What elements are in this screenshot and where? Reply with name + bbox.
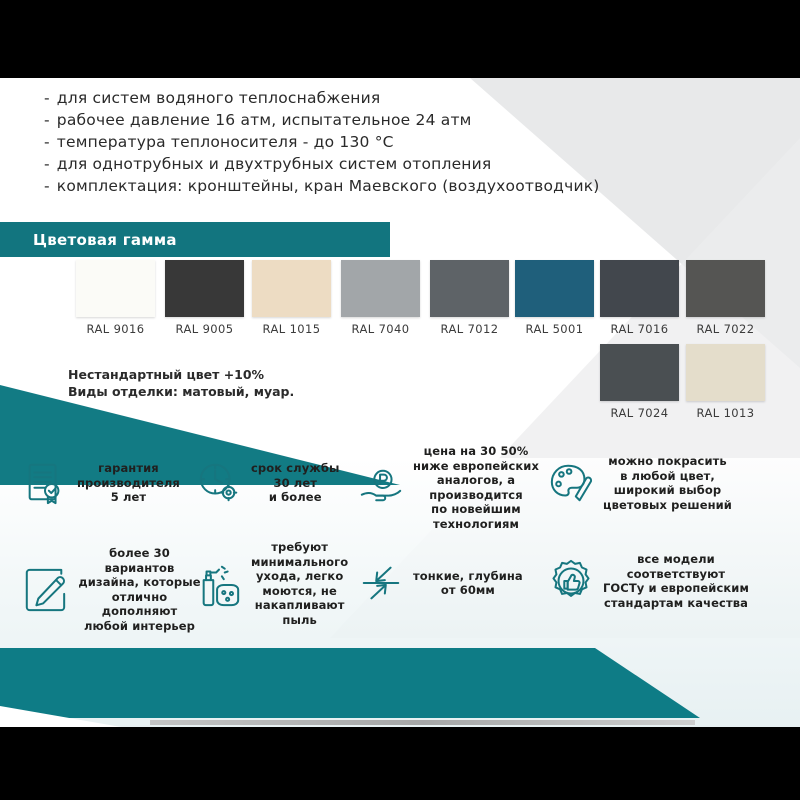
feature-item: все моделисоответствуютГОСТу и европейск…: [548, 552, 788, 610]
specification-list: -для систем водяного теплоснабжения-рабо…: [44, 87, 664, 197]
spec-bullet-dash: -: [44, 109, 50, 131]
spec-item-label: для систем водяного теплоснабжения: [57, 87, 381, 109]
feature-text-line: производителя: [77, 476, 180, 491]
color-swatch-code: RAL 7024: [600, 406, 679, 420]
palette-note: Нестандартный цвет +10%: [68, 366, 294, 383]
color-swatch[interactable]: RAL 7040: [341, 260, 420, 336]
hand-ruble-icon: [358, 465, 404, 511]
feature-text: тонкие, глубинаот 60мм: [413, 569, 523, 598]
feature-item: срок службы30 лети более: [196, 460, 366, 506]
color-swatch-chip: [252, 260, 331, 317]
feature-text-line: ГОСТу и европейским: [603, 581, 749, 596]
feature-text-line: в любой цвет,: [603, 469, 732, 484]
color-swatch[interactable]: RAL 9016: [76, 260, 155, 336]
color-swatch-code: RAL 1013: [686, 406, 765, 420]
color-swatch[interactable]: RAL 1015: [252, 260, 331, 336]
color-swatch[interactable]: RAL 7022: [686, 260, 765, 336]
palette-icon: [548, 460, 594, 506]
feature-text-line: соответствуют: [603, 567, 749, 582]
feature-text-line: широкий выбор: [603, 483, 732, 498]
thickness-arrows-icon: [358, 560, 404, 606]
feature-text-line: любой интерьер: [77, 619, 202, 634]
color-swatch-code: RAL 9016: [76, 322, 155, 336]
feature-text-line: гарантия: [77, 461, 180, 476]
feature-item: гарантияпроизводителя5 лет: [22, 460, 197, 506]
palette-note: Виды отделки: матовый, муар.: [68, 383, 294, 400]
thumbs-up-badge-icon: [548, 558, 594, 604]
color-swatch-chip: [76, 260, 155, 317]
feature-text-line: аналогов, а: [413, 473, 539, 488]
spec-list-item: -рабочее давление 16 атм, испытательное …: [44, 109, 664, 131]
color-swatch-chip: [686, 260, 765, 317]
feature-text-line: моются, не: [251, 584, 348, 599]
decorative-shadow-bar: [150, 720, 695, 725]
feature-text: срок службы30 лети более: [251, 461, 339, 505]
palette-section-title: Цветовая гамма: [33, 231, 177, 249]
color-swatch[interactable]: RAL 7016: [600, 260, 679, 336]
spec-item-label: температура теплоносителя - до 130 °С: [57, 131, 394, 153]
color-swatch-chip: [600, 260, 679, 317]
feature-text-line: тонкие, глубина: [413, 569, 523, 584]
color-swatch[interactable]: RAL 5001: [515, 260, 594, 336]
feature-text: более 30вариантовдизайна, которыеотлично…: [77, 546, 202, 633]
color-swatch[interactable]: RAL 1013: [686, 344, 765, 420]
feature-text-line: более 30: [77, 546, 202, 561]
spec-list-item: -для систем водяного теплоснабжения: [44, 87, 664, 109]
feature-text-line: срок службы: [251, 461, 339, 476]
feature-grid: гарантияпроизводителя5 летсрок службы30 …: [0, 452, 800, 652]
feature-item: требуютминимальногоухода, легкомоются, н…: [196, 540, 366, 627]
feature-text-line: требуют: [251, 540, 348, 555]
color-swatch-chip: [600, 344, 679, 401]
pencil-design-icon: [22, 567, 68, 613]
color-swatch-chip: [515, 260, 594, 317]
color-swatch-chip: [165, 260, 244, 317]
spec-bullet-dash: -: [44, 153, 50, 175]
feature-text-line: дизайна, которые: [77, 575, 202, 590]
feature-text-line: ухода, легко: [251, 569, 348, 584]
letterbox-bottom: [0, 727, 800, 800]
color-swatch-chip: [430, 260, 509, 317]
feature-text-line: и более: [251, 490, 339, 505]
feature-text-line: цветовых решений: [603, 498, 732, 513]
feature-item: тонкие, глубинаот 60мм: [358, 560, 548, 606]
color-swatch-chip: [341, 260, 420, 317]
color-swatch-code: RAL 1015: [252, 322, 331, 336]
feature-text-line: отлично дополняют: [77, 590, 202, 619]
spec-bullet-dash: -: [44, 87, 50, 109]
feature-text-line: можно покрасить: [603, 454, 732, 469]
color-swatch-code: RAL 9005: [165, 322, 244, 336]
feature-text-line: ниже европейских: [413, 459, 539, 474]
feature-text-line: цена на 30 50%: [413, 444, 539, 459]
color-swatch-code: RAL 7012: [430, 322, 509, 336]
spec-item-label: комплектация: кронштейны, кран Маевского…: [57, 175, 600, 197]
color-swatch[interactable]: RAL 9005: [165, 260, 244, 336]
feature-text-line: технологиям: [413, 517, 539, 532]
color-swatch-code: RAL 7040: [341, 322, 420, 336]
feature-item: более 30вариантовдизайна, которыеотлично…: [22, 546, 202, 633]
certificate-icon: [22, 460, 68, 506]
feature-item: цена на 30 50%ниже европейскиханалогов, …: [358, 444, 548, 531]
decorative-white-triangle: [0, 678, 420, 727]
feature-text-line: стандартам качества: [603, 596, 749, 611]
feature-text-line: минимального: [251, 555, 348, 570]
color-swatch-code: RAL 7016: [600, 322, 679, 336]
spec-item-label: рабочее давление 16 атм, испытательное 2…: [57, 109, 472, 131]
palette-notes: Нестандартный цвет +10%Виды отделки: мат…: [68, 366, 294, 400]
slide-canvas: -для систем водяного теплоснабжения-рабо…: [0, 78, 800, 727]
color-swatch-code: RAL 5001: [515, 322, 594, 336]
clock-gear-icon: [196, 460, 242, 506]
spec-list-item: -температура теплоносителя - до 130 °С: [44, 131, 664, 153]
spec-list-item: -для однотрубных и двухтрубных систем от…: [44, 153, 664, 175]
color-swatch-row-primary: RAL 9016RAL 9005RAL 1015RAL 7040RAL 7012…: [0, 260, 800, 340]
feature-text-line: производится: [413, 488, 539, 503]
feature-text-line: по новейшим: [413, 502, 539, 517]
feature-text-line: все модели: [603, 552, 749, 567]
feature-text-line: пыль: [251, 613, 348, 628]
spec-bullet-dash: -: [44, 131, 50, 153]
slide-screenshot: -для систем водяного теплоснабжения-рабо…: [0, 0, 800, 800]
spec-bullet-dash: -: [44, 175, 50, 197]
feature-text: требуютминимальногоухода, легкомоются, н…: [251, 540, 348, 627]
feature-text: можно покраситьв любой цвет,широкий выбо…: [603, 454, 732, 512]
feature-item: можно покраситьв любой цвет,широкий выбо…: [548, 454, 783, 512]
color-swatch-code: RAL 7022: [686, 322, 765, 336]
color-swatch[interactable]: RAL 7024: [600, 344, 679, 420]
feature-text-line: 5 лет: [77, 490, 180, 505]
feature-text-line: от 60мм: [413, 583, 523, 598]
feature-text-line: накапливают: [251, 598, 348, 613]
spec-list-item: -комплектация: кронштейны, кран Маевског…: [44, 175, 664, 197]
feature-text-line: вариантов: [77, 561, 202, 576]
feature-text: все моделисоответствуютГОСТу и европейск…: [603, 552, 749, 610]
spec-item-label: для однотрубных и двухтрубных систем ото…: [57, 153, 492, 175]
palette-section-banner: Цветовая гамма: [0, 222, 390, 257]
feature-text: гарантияпроизводителя5 лет: [77, 461, 180, 505]
color-swatch[interactable]: RAL 7012: [430, 260, 509, 336]
letterbox-top: [0, 0, 800, 78]
feature-text: цена на 30 50%ниже европейскиханалогов, …: [413, 444, 539, 531]
feature-text-line: 30 лет: [251, 476, 339, 491]
spray-sponge-icon: [196, 561, 242, 607]
color-swatch-chip: [686, 344, 765, 401]
